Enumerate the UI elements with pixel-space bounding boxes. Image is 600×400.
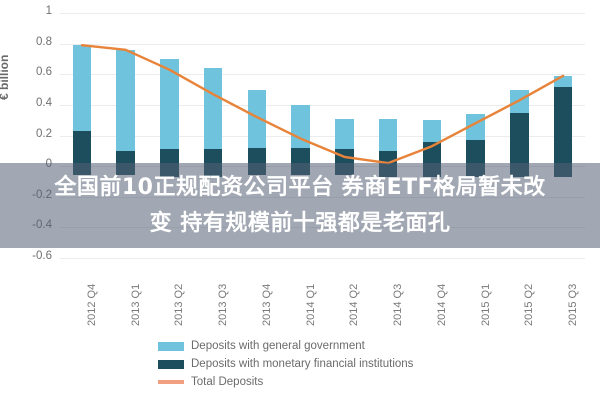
x-tick-label: 2014 Q4 xyxy=(436,284,448,326)
y-tick-label: 0.4 xyxy=(14,97,52,109)
x-tick-label: 2014 Q1 xyxy=(305,284,317,326)
legend-swatch xyxy=(158,360,184,369)
y-tick-label: 0.6 xyxy=(14,66,52,78)
x-tick-label: 2013 Q4 xyxy=(261,284,273,326)
y-tick-label: 1 xyxy=(14,5,52,17)
y-axis-label: € billion xyxy=(0,55,11,100)
headline-line-1: 全国前10正规配资公司平台 券商ETF格局暂未改 xyxy=(54,170,545,206)
headline-overlay: 全国前10正规配资公司平台 券商ETF格局暂未改 变 持有规模前十强都是老面孔 xyxy=(0,163,600,248)
chart-legend: Deposits with general governmentDeposits… xyxy=(158,337,488,391)
chart-figure: 10.80.60.40.20-0.2-0.4-0.6 € billion 201… xyxy=(0,0,600,400)
x-tick-label: 2014 Q3 xyxy=(392,284,404,326)
legend-label: Deposits with general government xyxy=(191,340,365,352)
x-tick-label: 2013 Q3 xyxy=(217,284,229,326)
legend-item: Deposits with monetary financial institu… xyxy=(158,355,488,373)
x-axis-labels: 2012 Q42013 Q12013 Q22013 Q32013 Q42014 … xyxy=(60,258,585,328)
x-tick-label: 2015 Q3 xyxy=(567,284,579,326)
x-tick-label: 2014 Q2 xyxy=(348,284,360,326)
x-tick-label: 2015 Q2 xyxy=(523,284,535,326)
y-tick-label: 0.2 xyxy=(14,128,52,140)
legend-label: Deposits with monetary financial institu… xyxy=(191,358,413,370)
legend-swatch xyxy=(158,342,184,351)
legend-item: Total Deposits xyxy=(158,373,488,391)
legend-label: Total Deposits xyxy=(191,376,263,388)
y-tick-label: 0.8 xyxy=(14,36,52,48)
x-tick-label: 2013 Q1 xyxy=(130,284,142,326)
headline-line-2: 变 持有规模前十强都是老面孔 xyxy=(150,206,451,242)
y-tick-label: -0.6 xyxy=(14,250,52,262)
x-tick-label: 2012 Q4 xyxy=(86,284,98,326)
x-tick-label: 2015 Q1 xyxy=(480,284,492,326)
x-tick-label: 2013 Q2 xyxy=(173,284,185,326)
legend-item: Deposits with general government xyxy=(158,337,488,355)
legend-swatch xyxy=(158,380,184,384)
